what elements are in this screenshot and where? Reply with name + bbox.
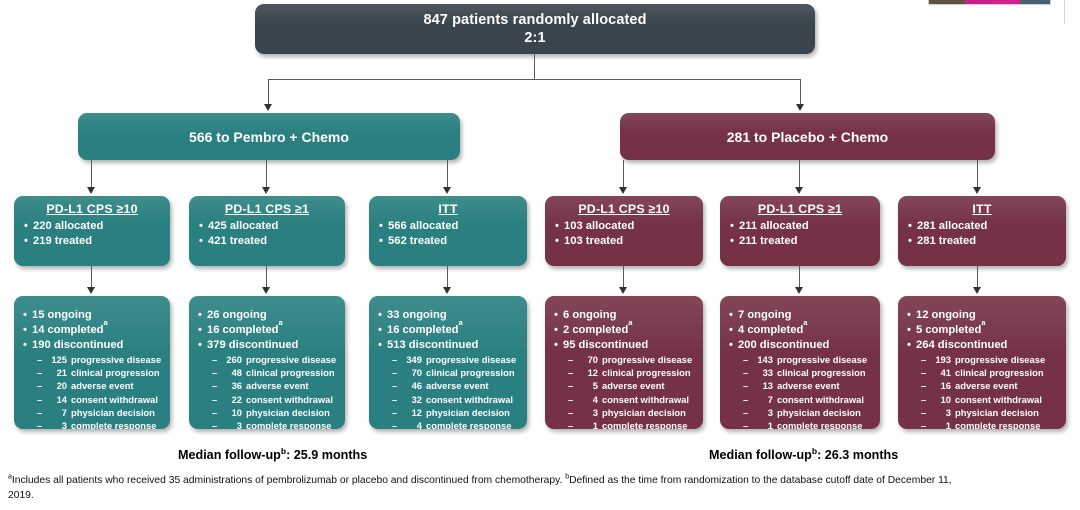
disposition-discontinued: •379 discontinued: [198, 338, 339, 353]
bullet-icon: •: [907, 308, 916, 323]
connector-alloc-disp-c4: [799, 266, 800, 288]
disposition-box-placebo-cps1: •7 ongoing •4 completeda •200 discontinu…: [720, 296, 880, 429]
disposition-discontinued-text: 513 discontinued: [387, 338, 478, 353]
allocation-line-text: 281 treated: [917, 234, 976, 249]
bullet-icon: •: [378, 308, 387, 323]
bullet-icon: •: [199, 234, 208, 249]
bullet-icon: •: [379, 234, 388, 249]
dash-icon: –: [37, 406, 49, 419]
reason-label: clinical progression: [246, 366, 335, 379]
disposition-reason: –193progressive disease: [921, 353, 1060, 366]
dash-icon: –: [392, 353, 404, 366]
dash-icon: –: [37, 393, 49, 406]
disposition-completed: •4 completeda: [729, 323, 874, 338]
disposition-reason: –4consent withdrawal: [568, 393, 697, 406]
reason-count: 7: [755, 393, 777, 406]
allocation-line-text: 220 allocated: [33, 219, 103, 234]
allocation-line-text: 211 allocated: [739, 219, 809, 234]
allocation-box-pembro-cps1: PD-L1 CPS ≥1 •425 allocated •421 treated: [189, 196, 345, 266]
reason-count: 3: [580, 406, 602, 419]
allocation-line: •566 allocated: [379, 219, 517, 234]
disposition-reason: –1complete response: [921, 419, 1060, 429]
reason-count: 16: [933, 379, 955, 392]
disposition-reason: –125progressive disease: [37, 353, 164, 366]
allocation-line-text: 219 treated: [33, 234, 92, 249]
disposition-ongoing: •6 ongoing: [554, 308, 697, 323]
bullet-icon: •: [198, 338, 207, 353]
reason-label: adverse event: [602, 379, 665, 392]
reason-label: clinical progression: [777, 366, 866, 379]
reason-label: physician decision: [955, 406, 1039, 419]
reason-label: progressive disease: [602, 353, 692, 366]
allocation-line: •562 treated: [379, 234, 517, 249]
arrowhead-placebo-c3: [619, 187, 627, 194]
arrowhead-disp-c5: [973, 287, 981, 294]
disposition-reason: –36adverse event: [212, 379, 339, 392]
disposition-reason: –16adverse event: [921, 379, 1060, 392]
allocation-box-pembro-cps10: PD-L1 CPS ≥10 •220 allocated •219 treate…: [14, 196, 170, 266]
reason-label: clinical progression: [602, 366, 691, 379]
arrowhead-pembro-c0: [87, 187, 95, 194]
reason-label: adverse event: [777, 379, 840, 392]
allocation-line: •281 treated: [908, 234, 1056, 249]
dash-icon: –: [392, 366, 404, 379]
arrowhead-disp-c3: [619, 287, 627, 294]
allocation-line: •421 treated: [199, 234, 335, 249]
reason-count: 70: [580, 353, 602, 366]
reason-count: 3: [933, 406, 955, 419]
arrowhead-placebo-c5: [973, 187, 981, 194]
allocation-box-placebo-itt: ITT •281 allocated •281 treated: [898, 196, 1066, 266]
disposition-completed-text: 16 completed: [207, 323, 279, 338]
dash-icon: –: [921, 419, 933, 429]
disposition-ongoing-text: 7 ongoing: [738, 308, 791, 323]
dash-icon: –: [212, 406, 224, 419]
allocation-box-placebo-cps1: PD-L1 CPS ≥1 •211 allocated •211 treated: [720, 196, 880, 266]
reason-count: 7: [49, 406, 71, 419]
disposition-discontinued: •95 discontinued: [554, 338, 697, 353]
disposition-reason: –4complete response: [392, 419, 521, 429]
disposition-reason: –12physician decision: [392, 406, 521, 419]
bullet-icon: •: [908, 234, 917, 249]
disposition-ongoing-text: 6 ongoing: [563, 308, 616, 323]
reason-label: adverse event: [955, 379, 1018, 392]
allocation-line-text: 211 treated: [739, 234, 797, 249]
reason-label: consent withdrawal: [777, 393, 864, 406]
allocation-line-text: 425 allocated: [208, 219, 278, 234]
reason-label: consent withdrawal: [955, 393, 1042, 406]
allocation-line-text: 103 allocated: [564, 219, 634, 234]
reason-count: 5: [580, 379, 602, 392]
allocation-line: •281 allocated: [908, 219, 1056, 234]
reason-label: complete response: [955, 419, 1040, 429]
disposition-discontinued: •190 discontinued: [23, 338, 164, 353]
bullet-icon: •: [555, 234, 564, 249]
reason-label: complete response: [602, 419, 687, 429]
connector-pembro-c1: [266, 160, 267, 188]
dash-icon: –: [743, 366, 755, 379]
arm-box-placebo-chemo: 281 to Placebo + Chemo: [620, 113, 995, 160]
bullet-icon: •: [554, 308, 563, 323]
bullet-icon: •: [198, 308, 207, 323]
reason-label: complete response: [246, 419, 331, 429]
disposition-reason: –10consent withdrawal: [921, 393, 1060, 406]
allocation-title: PD-L1 CPS ≥1: [199, 202, 335, 216]
reason-label: adverse event: [426, 379, 489, 392]
dash-icon: –: [743, 393, 755, 406]
bullet-icon: •: [23, 323, 32, 338]
footnote-text-a: Includes all patients who received 35 ad…: [12, 475, 565, 486]
bullet-icon: •: [198, 323, 207, 338]
reason-count: 22: [224, 393, 246, 406]
dash-icon: –: [921, 406, 933, 419]
dash-icon: –: [568, 379, 580, 392]
reason-label: physician decision: [426, 406, 510, 419]
dash-icon: –: [743, 379, 755, 392]
connector-alloc-disp-c1: [266, 266, 267, 288]
reason-label: consent withdrawal: [71, 393, 158, 406]
connector-root-bus: [268, 79, 801, 80]
disposition-completed: •16 completeda: [198, 323, 339, 338]
arrowhead-to-placebo: [796, 104, 804, 111]
dash-icon: –: [212, 419, 224, 429]
disposition-reason: –21clinical progression: [37, 366, 164, 379]
dash-icon: –: [37, 419, 49, 429]
disposition-reason: –260progressive disease: [212, 353, 339, 366]
reason-label: consent withdrawal: [246, 393, 333, 406]
dash-icon: –: [568, 419, 580, 429]
reason-count: 14: [49, 393, 71, 406]
dash-icon: –: [212, 379, 224, 392]
disposition-reason: –5adverse event: [568, 379, 697, 392]
reason-label: adverse event: [246, 379, 309, 392]
dash-icon: –: [921, 353, 933, 366]
disposition-completed: •14 completeda: [23, 323, 164, 338]
dash-icon: –: [212, 393, 224, 406]
allocation-line-text: 281 allocated: [917, 219, 987, 234]
connector-alloc-disp-c3: [623, 266, 624, 288]
connector-alloc-disp-c5: [977, 266, 978, 288]
disposition-box-placebo-cps10: •6 ongoing •2 completeda •95 discontinue…: [545, 296, 703, 429]
arrowhead-to-pembro: [264, 104, 272, 111]
allocation-line: •219 treated: [24, 234, 160, 249]
reason-count: 1: [755, 419, 777, 429]
disposition-reason: –46adverse event: [392, 379, 521, 392]
bullet-icon: •: [907, 338, 916, 353]
reason-label: complete response: [71, 419, 156, 429]
reason-count: 36: [224, 379, 246, 392]
arm-label-pembro: 566 to Pembro + Chemo: [189, 129, 349, 145]
dash-icon: –: [392, 393, 404, 406]
reason-label: consent withdrawal: [426, 393, 513, 406]
reason-label: progressive disease: [777, 353, 867, 366]
dash-icon: –: [392, 419, 404, 429]
disposition-ongoing: •26 ongoing: [198, 308, 339, 323]
arm-box-pembro-chemo: 566 to Pembro + Chemo: [78, 113, 460, 160]
disposition-box-pembro-cps1: •26 ongoing •16 completeda •379 disconti…: [189, 296, 345, 429]
disposition-reason: –20adverse event: [37, 379, 164, 392]
bullet-icon: •: [729, 338, 738, 353]
reason-label: consent withdrawal: [602, 393, 689, 406]
root-line-1: 847 patients randomly allocated: [423, 11, 646, 29]
dash-icon: –: [212, 353, 224, 366]
slide-thumbnail-strip[interactable]: [928, 0, 1051, 5]
dash-icon: –: [743, 406, 755, 419]
reason-count: 260: [224, 353, 246, 366]
disposition-reason: –7consent withdrawal: [743, 393, 874, 406]
disposition-reason: –41clinical progression: [921, 366, 1060, 379]
dash-icon: –: [568, 366, 580, 379]
reason-count: 4: [404, 419, 426, 429]
connector-placebo-c3: [623, 160, 624, 188]
disposition-discontinued-text: 264 discontinued: [916, 338, 1007, 353]
connector-root-stem: [534, 54, 535, 80]
disposition-box-placebo-itt: •12 ongoing •5 completeda •264 discontin…: [898, 296, 1066, 429]
bullet-icon: •: [730, 234, 739, 249]
disposition-reason: –3physician decision: [743, 406, 874, 419]
bullet-icon: •: [379, 219, 388, 234]
connector-pembro-c0: [91, 160, 92, 188]
connector-alloc-disp-c2: [447, 266, 448, 288]
dash-icon: –: [921, 393, 933, 406]
arrowhead-disp-c2: [443, 287, 451, 294]
disposition-completed: •2 completeda: [554, 323, 697, 338]
arrowhead-pembro-c1: [262, 187, 270, 194]
reason-label: clinical progression: [426, 366, 515, 379]
disposition-reason: –349progressive disease: [392, 353, 521, 366]
root-box-randomization: 847 patients randomly allocated 2:1: [255, 4, 815, 54]
reason-label: progressive disease: [246, 353, 336, 366]
disposition-completed-text: 14 completed: [32, 323, 104, 338]
reason-count: 1: [580, 419, 602, 429]
reason-label: physician decision: [71, 406, 155, 419]
reason-count: 3: [755, 406, 777, 419]
disposition-reason: –1complete response: [743, 419, 874, 429]
reason-count: 349: [404, 353, 426, 366]
reason-count: 10: [933, 393, 955, 406]
disposition-completed-text: 16 completed: [387, 323, 459, 338]
thumb-segment-4: [1020, 0, 1050, 4]
allocation-title: PD-L1 CPS ≥10: [24, 202, 160, 216]
footnote-text: aIncludes all patients who received 35 a…: [8, 474, 974, 503]
bullet-icon: •: [199, 219, 208, 234]
bullet-icon: •: [729, 308, 738, 323]
disposition-reason: –32consent withdrawal: [392, 393, 521, 406]
reason-count: 48: [224, 366, 246, 379]
reason-label: physician decision: [246, 406, 330, 419]
arrowhead-disp-c4: [795, 287, 803, 294]
disposition-discontinued-text: 190 discontinued: [32, 338, 123, 353]
disposition-reason: –70progressive disease: [568, 353, 697, 366]
bullet-icon: •: [555, 219, 564, 234]
allocation-box-placebo-cps10: PD-L1 CPS ≥10 •103 allocated •103 treate…: [545, 196, 703, 266]
dash-icon: –: [921, 366, 933, 379]
allocation-line: •103 allocated: [555, 219, 693, 234]
reason-count: 46: [404, 379, 426, 392]
dash-icon: –: [37, 353, 49, 366]
reason-count: 143: [755, 353, 777, 366]
bullet-icon: •: [24, 219, 33, 234]
bullet-icon: •: [378, 323, 387, 338]
disposition-completed-text: 4 completed: [738, 323, 803, 338]
reason-count: 70: [404, 366, 426, 379]
disposition-reason: –3physician decision: [568, 406, 697, 419]
disposition-reason: –3complete response: [37, 419, 164, 429]
bullet-icon: •: [23, 308, 32, 323]
disposition-reason: –3physician decision: [921, 406, 1060, 419]
allocation-title: ITT: [908, 202, 1056, 216]
allocation-line-text: 562 treated: [388, 234, 447, 249]
median-followup-pembro: Median follow-upb: 25.9 months: [178, 448, 367, 462]
dash-icon: –: [37, 366, 49, 379]
allocation-line: •425 allocated: [199, 219, 335, 234]
dash-icon: –: [37, 379, 49, 392]
disposition-ongoing: •7 ongoing: [729, 308, 874, 323]
disposition-completed-text: 5 completed: [916, 323, 981, 338]
flowchart-root: 847 patients randomly allocated 2:1 566 …: [0, 0, 1080, 510]
allocation-line-text: 421 treated: [208, 234, 267, 249]
thumb-segment-2: [965, 0, 992, 4]
reason-count: 10: [224, 406, 246, 419]
reason-count: 13: [755, 379, 777, 392]
reason-count: 3: [49, 419, 71, 429]
arrowhead-pembro-c2: [443, 187, 451, 194]
reason-count: 20: [49, 379, 71, 392]
reason-label: physician decision: [602, 406, 686, 419]
reason-label: clinical progression: [955, 366, 1044, 379]
disposition-ongoing: •33 ongoing: [378, 308, 521, 323]
disposition-box-pembro-itt: •33 ongoing •16 completeda •513 disconti…: [369, 296, 527, 429]
disposition-reason: –10physician decision: [212, 406, 339, 419]
reason-count: 1: [933, 419, 955, 429]
dash-icon: –: [568, 353, 580, 366]
disposition-ongoing-text: 26 ongoing: [207, 308, 267, 323]
disposition-discontinued: •200 discontinued: [729, 338, 874, 353]
reason-count: 4: [580, 393, 602, 406]
median-followup-label: Median follow-up: [709, 448, 812, 462]
allocation-title: ITT: [379, 202, 517, 216]
panel-divider: [1064, 0, 1065, 24]
dash-icon: –: [212, 366, 224, 379]
bullet-icon: •: [554, 323, 563, 338]
reason-count: 12: [580, 366, 602, 379]
arm-label-placebo: 281 to Placebo + Chemo: [727, 129, 888, 145]
disposition-completed: •5 completeda: [907, 323, 1060, 338]
dash-icon: –: [921, 379, 933, 392]
connector-alloc-disp-c0: [91, 266, 92, 288]
connector-placebo-c5: [977, 160, 978, 188]
bullet-icon: •: [729, 323, 738, 338]
disposition-discontinued: •264 discontinued: [907, 338, 1060, 353]
dash-icon: –: [568, 406, 580, 419]
reason-count: 21: [49, 366, 71, 379]
reason-label: complete response: [426, 419, 511, 429]
bullet-icon: •: [378, 338, 387, 353]
bullet-icon: •: [554, 338, 563, 353]
disposition-ongoing: •15 ongoing: [23, 308, 164, 323]
reason-count: 41: [933, 366, 955, 379]
disposition-completed: •16 completeda: [378, 323, 521, 338]
bullet-icon: •: [23, 338, 32, 353]
allocation-line: •211 allocated: [730, 219, 870, 234]
disposition-discontinued-text: 95 discontinued: [563, 338, 648, 353]
disposition-reason: –13adverse event: [743, 379, 874, 392]
disposition-reason: –14consent withdrawal: [37, 393, 164, 406]
disposition-ongoing-text: 12 ongoing: [916, 308, 976, 323]
arrowhead-placebo-c4: [795, 187, 803, 194]
root-line-2: 2:1: [524, 29, 545, 47]
dash-icon: –: [568, 393, 580, 406]
allocation-line: •220 allocated: [24, 219, 160, 234]
reason-label: adverse event: [71, 379, 134, 392]
allocation-title: PD-L1 CPS ≥1: [730, 202, 870, 216]
reason-label: complete response: [777, 419, 862, 429]
allocation-box-pembro-itt: ITT •566 allocated •562 treated: [369, 196, 527, 266]
allocation-line-text: 103 treated: [564, 234, 623, 249]
connector-to-placebo: [800, 79, 801, 105]
disposition-reason: –3complete response: [212, 419, 339, 429]
reason-label: progressive disease: [71, 353, 161, 366]
dash-icon: –: [743, 353, 755, 366]
disposition-box-pembro-cps10: •15 ongoing •14 completeda •190 disconti…: [14, 296, 170, 429]
median-followup-value: : 26.3 months: [817, 448, 898, 462]
dash-icon: –: [392, 379, 404, 392]
median-followup-placebo: Median follow-upb: 26.3 months: [709, 448, 898, 462]
disposition-discontinued-text: 200 discontinued: [738, 338, 829, 353]
reason-count: 33: [755, 366, 777, 379]
connector-placebo-c4: [799, 160, 800, 188]
median-followup-label: Median follow-up: [178, 448, 281, 462]
reason-label: progressive disease: [955, 353, 1045, 366]
connector-pembro-c2: [447, 160, 448, 188]
reason-label: progressive disease: [426, 353, 516, 366]
thumb-segment-1: [929, 0, 965, 4]
disposition-reason: –33clinical progression: [743, 366, 874, 379]
disposition-reason: –7physician decision: [37, 406, 164, 419]
reason-count: 125: [49, 353, 71, 366]
connector-to-pembro: [268, 79, 269, 105]
disposition-discontinued: •513 discontinued: [378, 338, 521, 353]
disposition-reason: –1complete response: [568, 419, 697, 429]
reason-count: 193: [933, 353, 955, 366]
disposition-reason: –22consent withdrawal: [212, 393, 339, 406]
arrowhead-disp-c0: [87, 287, 95, 294]
allocation-line: •103 treated: [555, 234, 693, 249]
bullet-icon: •: [907, 323, 916, 338]
median-followup-value: : 25.9 months: [286, 448, 367, 462]
disposition-ongoing-text: 15 ongoing: [32, 308, 92, 323]
reason-count: 32: [404, 393, 426, 406]
bullet-icon: •: [730, 219, 739, 234]
disposition-reason: –143progressive disease: [743, 353, 874, 366]
dash-icon: –: [392, 406, 404, 419]
arrowhead-disp-c1: [262, 287, 270, 294]
bullet-icon: •: [24, 234, 33, 249]
disposition-completed-text: 2 completed: [563, 323, 628, 338]
allocation-line-text: 566 allocated: [388, 219, 458, 234]
dash-icon: –: [743, 419, 755, 429]
reason-count: 12: [404, 406, 426, 419]
bullet-icon: •: [908, 219, 917, 234]
reason-label: clinical progression: [71, 366, 160, 379]
thumb-segment-3: [992, 0, 1020, 4]
disposition-reason: –48clinical progression: [212, 366, 339, 379]
disposition-reason: –70clinical progression: [392, 366, 521, 379]
allocation-title: PD-L1 CPS ≥10: [555, 202, 693, 216]
disposition-discontinued-text: 379 discontinued: [207, 338, 298, 353]
disposition-reason: –12clinical progression: [568, 366, 697, 379]
allocation-line: •211 treated: [730, 234, 870, 249]
